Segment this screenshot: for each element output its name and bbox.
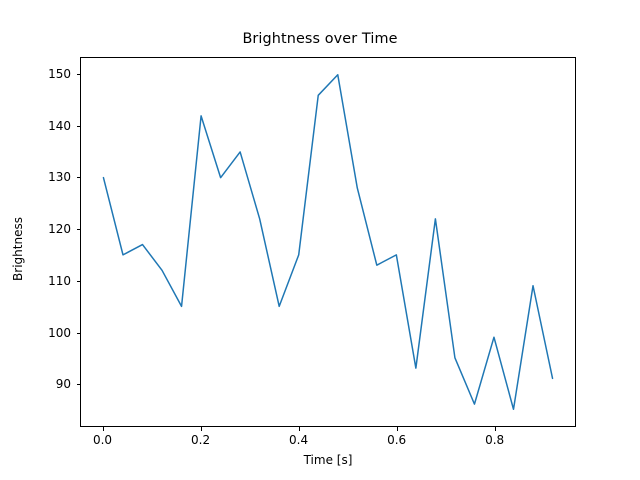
chart-title: Brightness over Time — [0, 31, 640, 47]
x-tick-label: 0.6 — [387, 433, 406, 447]
x-tick-mark — [201, 427, 202, 431]
x-tick-label: 0.0 — [93, 433, 112, 447]
x-axis-label: Time [s] — [80, 453, 576, 467]
y-tick-label: 130 — [48, 170, 71, 184]
y-tick-label: 110 — [48, 274, 71, 288]
y-tick-label: 100 — [48, 326, 71, 340]
brightness-line-series — [81, 58, 575, 426]
y-tick-label: 140 — [48, 119, 71, 133]
plot-area — [80, 57, 576, 427]
x-tick-label: 0.4 — [289, 433, 308, 447]
x-tick-mark — [299, 427, 300, 431]
y-tick-label: 120 — [48, 222, 71, 236]
y-axis-label: Brightness — [11, 149, 25, 349]
x-tick-mark — [495, 427, 496, 431]
y-tick-label: 150 — [48, 67, 71, 81]
figure-canvas: Brightness over Time 9010011012013014015… — [0, 0, 640, 480]
y-tick-label: 90 — [56, 377, 71, 391]
x-tick-label: 0.8 — [485, 433, 504, 447]
x-tick-mark — [397, 427, 398, 431]
x-tick-mark — [103, 427, 104, 431]
x-tick-label: 0.2 — [191, 433, 210, 447]
